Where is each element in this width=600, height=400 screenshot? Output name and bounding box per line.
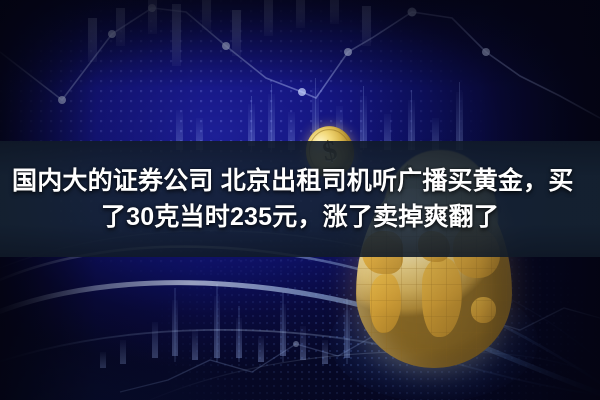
headline-line-2: 了30克当时235元，涨了卖掉爽翻了 <box>101 201 499 233</box>
banner-image: $ $ 国内大的证券公司 北京出租司机听广播买黄金，买 了30克当时235元，涨… <box>0 0 600 400</box>
headline-text-block: 国内大的证券公司 北京出租司机听广播买黄金，买 了30克当时235元，涨了卖掉爽… <box>0 141 600 257</box>
headline-line-1: 国内大的证券公司 北京出租司机听广播买黄金，买 <box>6 165 574 197</box>
